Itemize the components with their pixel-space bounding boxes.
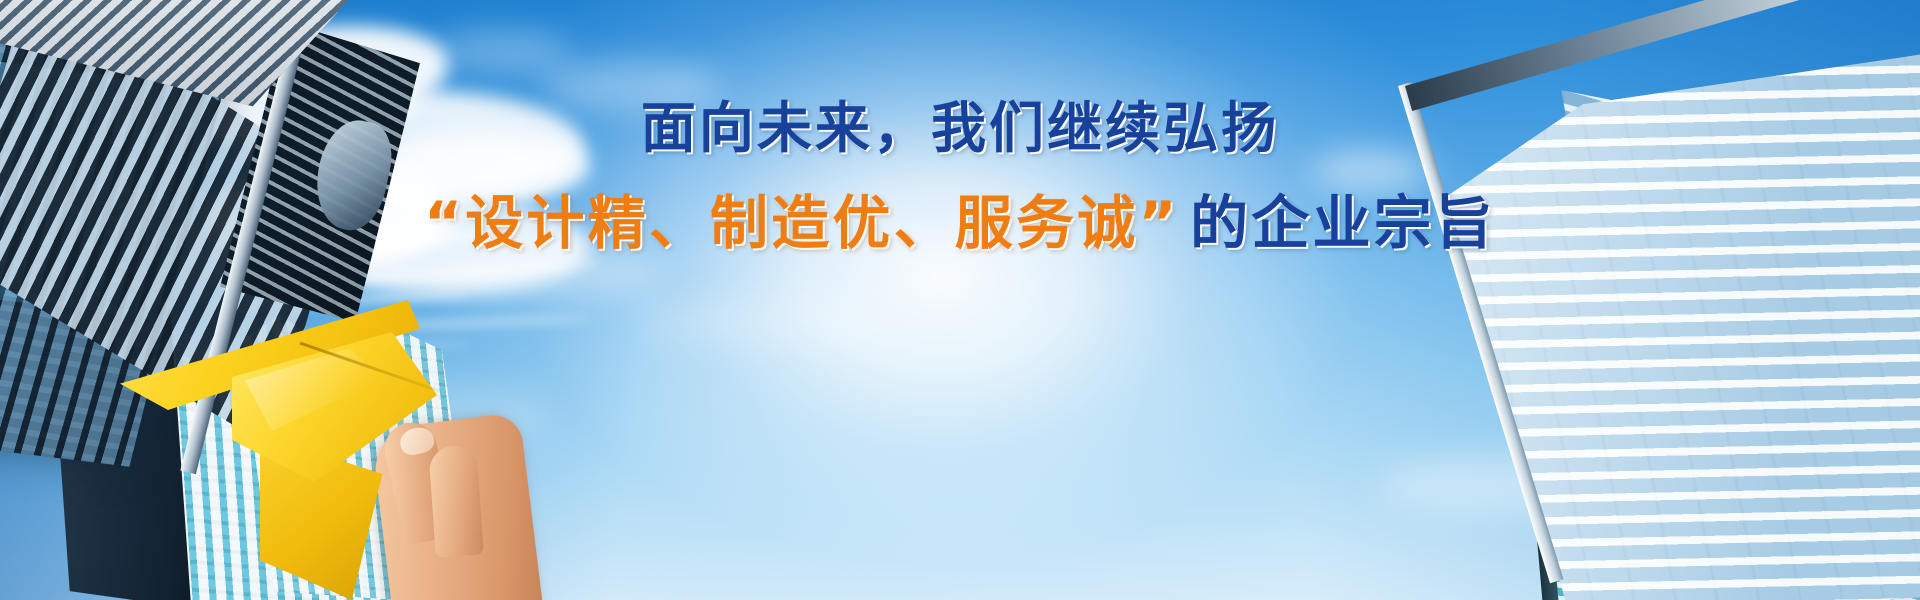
- right-buildings-group: [1220, 0, 1920, 600]
- paper-plane-group: [120, 270, 460, 600]
- finger: [428, 444, 484, 557]
- right-glass-skyscraper: [1410, 37, 1920, 600]
- hero-banner: 面向未来，我们继续弘扬 “设计精、制造优、服务诚”的企业宗旨: [0, 0, 1920, 600]
